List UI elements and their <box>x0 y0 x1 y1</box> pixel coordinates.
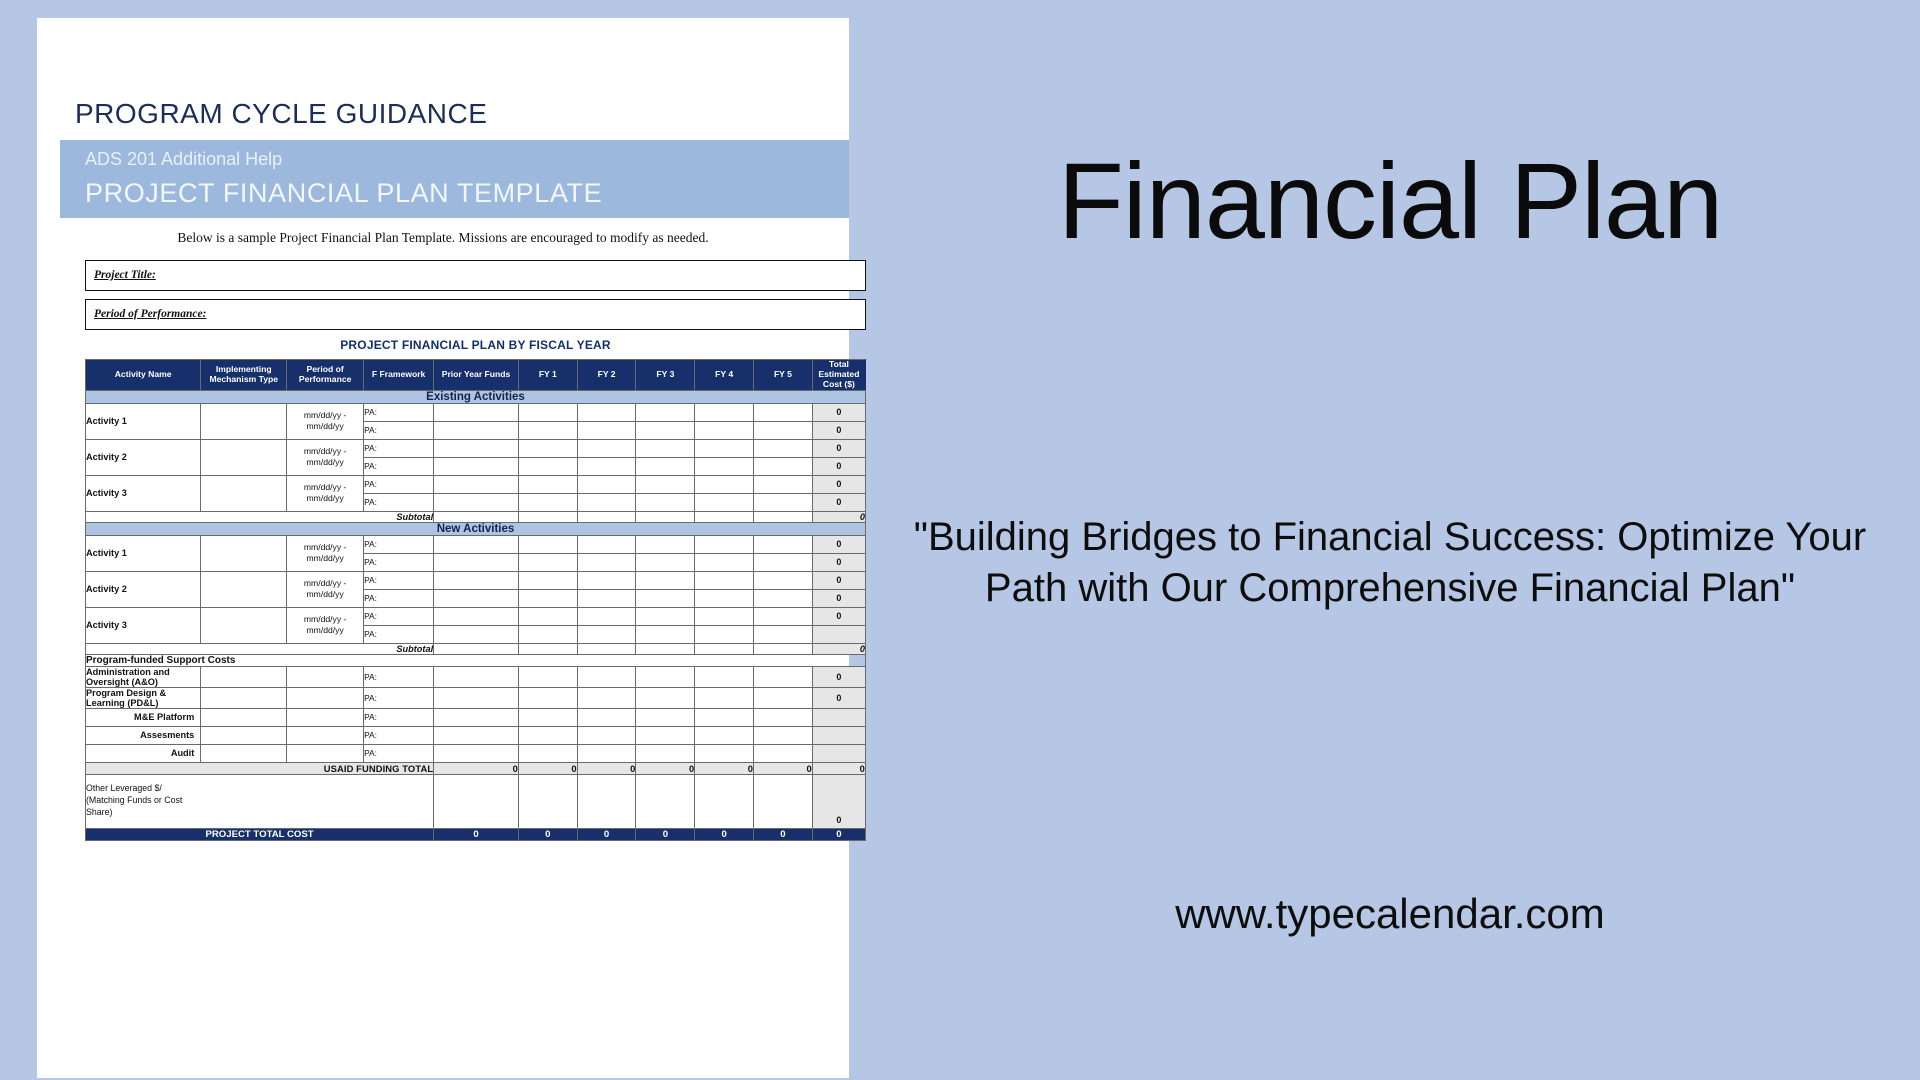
website-url: www.typecalendar.com <box>860 890 1920 938</box>
support-row-label: Administration and Oversight (A&O) <box>86 666 201 687</box>
usaid-total-fy2: 0 <box>577 762 636 774</box>
section-existing-activities: Existing Activities <box>86 390 866 403</box>
mechanism-cell[interactable] <box>201 535 287 571</box>
table-row: Activity 2 mm/dd/yy - mm/dd/yy PA: <box>86 571 866 589</box>
fy5-cell[interactable] <box>754 744 813 762</box>
fy2-cell[interactable] <box>577 607 636 625</box>
project-total-fy2: 0 <box>577 828 636 840</box>
support-row-label: Program Design & Learning (PD&L) <box>86 687 201 708</box>
fy4-cell[interactable] <box>695 687 754 708</box>
program-cycle-title: PROGRAM CYCLE GUIDANCE <box>75 98 487 130</box>
mechanism-cell[interactable] <box>201 687 287 708</box>
subtotal-fy3 <box>636 511 695 522</box>
total-cell: 0 <box>812 607 865 625</box>
fy2-cell[interactable] <box>577 439 636 457</box>
fy1-cell[interactable] <box>518 666 577 687</box>
table-row: Activity 1 mm/dd/yy - mm/dd/yy PA: <box>86 403 866 421</box>
date-to: mm/dd/yy <box>307 493 344 503</box>
project-total-grand: 0 <box>812 828 865 840</box>
total-cell: 0 <box>812 687 865 708</box>
fy2-cell[interactable] <box>577 625 636 643</box>
fy5-cell[interactable] <box>754 666 813 687</box>
fy3-cell[interactable] <box>636 589 695 607</box>
subtotal-fy4 <box>695 643 754 654</box>
prior-year-cell[interactable] <box>434 666 519 687</box>
subtotal-label: Subtotal <box>86 643 434 654</box>
fy2-cell[interactable] <box>577 535 636 553</box>
ads-help-line: ADS 201 Additional Help <box>85 149 282 170</box>
document-page: PROGRAM CYCLE GUIDANCE ADS 201 Additiona… <box>37 18 849 1078</box>
total-cell <box>812 625 865 643</box>
fy1-cell[interactable] <box>518 475 577 493</box>
period-of-performance-label: Period of Performance: <box>86 300 865 320</box>
subtotal-fy2 <box>577 511 636 522</box>
prior-year-cell[interactable] <box>434 493 519 511</box>
total-cell <box>812 726 865 744</box>
fy5-cell[interactable] <box>754 607 813 625</box>
date-from: mm/dd/yy - <box>304 542 347 552</box>
usaid-total-grand: 0 <box>812 762 865 774</box>
activity-name-cell: Activity 3 <box>86 607 201 643</box>
col-activity-name: Activity Name <box>86 360 201 391</box>
fy3-cell[interactable] <box>636 553 695 571</box>
mechanism-cell[interactable] <box>201 571 287 607</box>
leveraged-line-2: (Matching Funds or Cost <box>86 795 182 805</box>
period-cell[interactable] <box>287 708 364 726</box>
mechanism-cell[interactable] <box>201 439 287 475</box>
total-cell: 0 <box>812 589 865 607</box>
usaid-funding-total-label: USAID FUNDING TOTAL <box>86 762 434 774</box>
subtotal-label: Subtotal <box>86 511 434 522</box>
fy3-cell[interactable] <box>636 535 695 553</box>
fy5-cell[interactable] <box>754 421 813 439</box>
framework-cell[interactable]: PA: <box>364 625 434 643</box>
period-cell[interactable]: mm/dd/yy - mm/dd/yy <box>287 475 364 511</box>
col-fy1: FY 1 <box>518 360 577 391</box>
activity-name-cell: Activity 1 <box>86 403 201 439</box>
usaid-total-fy3: 0 <box>636 762 695 774</box>
framework-cell[interactable]: PA: <box>364 607 434 625</box>
fy5-cell[interactable] <box>754 439 813 457</box>
fy5-cell[interactable] <box>754 687 813 708</box>
fy1-cell[interactable] <box>518 535 577 553</box>
fy5-cell[interactable] <box>754 493 813 511</box>
section-support-label: Program-funded Support Costs <box>86 654 866 666</box>
date-to: mm/dd/yy <box>307 625 344 635</box>
period-cell[interactable] <box>287 687 364 708</box>
fy2-cell[interactable] <box>577 589 636 607</box>
fy1-cell[interactable] <box>518 493 577 511</box>
fy3-cell[interactable] <box>636 421 695 439</box>
fy1-cell[interactable] <box>518 439 577 457</box>
fy5-cell[interactable] <box>754 457 813 475</box>
period-cell[interactable]: mm/dd/yy - mm/dd/yy <box>287 571 364 607</box>
framework-cell[interactable]: PA: <box>364 666 434 687</box>
activity-name-cell: Activity 2 <box>86 439 201 475</box>
fy3-cell[interactable] <box>636 708 695 726</box>
prior-year-cell[interactable] <box>434 571 519 589</box>
fy1-cell[interactable] <box>518 607 577 625</box>
table-row: Activity 3 mm/dd/yy - mm/dd/yy PA: <box>86 607 866 625</box>
mechanism-cell[interactable] <box>201 475 287 511</box>
fy1-cell[interactable] <box>518 403 577 421</box>
leveraged-prior-year[interactable] <box>434 774 519 828</box>
subtotal-row-new: Subtotal 0 <box>86 643 866 654</box>
subtotal-fy2 <box>577 643 636 654</box>
date-from: mm/dd/yy - <box>304 410 347 420</box>
period-cell[interactable] <box>287 744 364 762</box>
fy4-cell[interactable] <box>695 744 754 762</box>
mechanism-cell[interactable] <box>201 708 287 726</box>
activity-name-cell: Activity 3 <box>86 475 201 511</box>
fy3-cell[interactable] <box>636 493 695 511</box>
fy2-cell[interactable] <box>577 687 636 708</box>
section-existing-label: Existing Activities <box>86 390 866 403</box>
fy3-cell[interactable] <box>636 571 695 589</box>
framework-cell[interactable]: PA: <box>364 493 434 511</box>
project-total-fy5: 0 <box>754 828 813 840</box>
usaid-total-fy4: 0 <box>695 762 754 774</box>
fy2-cell[interactable] <box>577 708 636 726</box>
fy3-cell[interactable] <box>636 744 695 762</box>
framework-cell[interactable]: PA: <box>364 708 434 726</box>
fy2-cell[interactable] <box>577 403 636 421</box>
period-cell[interactable]: mm/dd/yy - mm/dd/yy <box>287 403 364 439</box>
other-leveraged-label: Other Leveraged $/ (Matching Funds or Co… <box>86 774 434 828</box>
fy4-cell[interactable] <box>695 708 754 726</box>
period-cell[interactable]: mm/dd/yy - mm/dd/yy <box>287 535 364 571</box>
fy5-cell[interactable] <box>754 553 813 571</box>
subtotal-fy3 <box>636 643 695 654</box>
subtotal-fy4 <box>695 511 754 522</box>
table-row: M&E Platform PA: <box>86 708 866 726</box>
date-from: mm/dd/yy - <box>304 578 347 588</box>
framework-cell[interactable]: PA: <box>364 571 434 589</box>
usaid-funding-total-row: USAID FUNDING TOTAL 0 0 0 0 0 0 0 <box>86 762 866 774</box>
fy4-cell[interactable] <box>695 475 754 493</box>
framework-cell[interactable]: PA: <box>364 403 434 421</box>
prior-year-cell[interactable] <box>434 726 519 744</box>
date-to: mm/dd/yy <box>307 457 344 467</box>
date-to: mm/dd/yy <box>307 553 344 563</box>
fy3-cell[interactable] <box>636 666 695 687</box>
page-title: Financial Plan <box>860 138 1920 263</box>
fy5-cell[interactable] <box>754 535 813 553</box>
fy1-cell[interactable] <box>518 625 577 643</box>
table-row: Activity 3 mm/dd/yy - mm/dd/yy PA: <box>86 475 866 493</box>
project-title-field[interactable]: Project Title: <box>85 260 866 291</box>
project-title-label: Project Title: <box>86 261 865 281</box>
fy5-cell[interactable] <box>754 625 813 643</box>
fy2-cell[interactable] <box>577 744 636 762</box>
fy2-cell[interactable] <box>577 571 636 589</box>
fy1-cell[interactable] <box>518 421 577 439</box>
fy2-cell[interactable] <box>577 726 636 744</box>
fy3-cell[interactable] <box>636 439 695 457</box>
mechanism-cell[interactable] <box>201 607 287 643</box>
total-cell: 0 <box>812 421 865 439</box>
leveraged-fy4[interactable] <box>695 774 754 828</box>
support-row-label: Assesments <box>86 726 201 744</box>
fy2-cell[interactable] <box>577 493 636 511</box>
fy4-cell[interactable] <box>695 439 754 457</box>
fy1-cell[interactable] <box>518 571 577 589</box>
fy4-cell[interactable] <box>695 666 754 687</box>
prior-year-cell[interactable] <box>434 687 519 708</box>
col-period-performance: Period of Performance <box>287 360 364 391</box>
table-row: Activity 1 mm/dd/yy - mm/dd/yy PA: <box>86 535 866 553</box>
project-total-cost-label: PROJECT TOTAL COST <box>86 828 434 840</box>
fy5-cell[interactable] <box>754 403 813 421</box>
fy4-cell[interactable] <box>695 607 754 625</box>
prior-year-cell[interactable] <box>434 475 519 493</box>
fy4-cell[interactable] <box>695 535 754 553</box>
fy4-cell[interactable] <box>695 421 754 439</box>
fy3-cell[interactable] <box>636 457 695 475</box>
project-total-fy3: 0 <box>636 828 695 840</box>
project-total-fy1: 0 <box>518 828 577 840</box>
framework-cell[interactable]: PA: <box>364 457 434 475</box>
col-f-framework: F Framework <box>364 360 434 391</box>
fy3-cell[interactable] <box>636 726 695 744</box>
col-fy4: FY 4 <box>695 360 754 391</box>
total-cell: 0 <box>812 535 865 553</box>
framework-cell[interactable]: PA: <box>364 687 434 708</box>
date-to: mm/dd/yy <box>307 589 344 599</box>
project-total-prior-year: 0 <box>434 828 519 840</box>
table-row: Assesments PA: <box>86 726 866 744</box>
activity-name-cell: Activity 2 <box>86 571 201 607</box>
leveraged-line-3: Share) <box>86 807 112 817</box>
project-total-fy4: 0 <box>695 828 754 840</box>
fy2-cell[interactable] <box>577 457 636 475</box>
table-caption: PROJECT FINANCIAL PLAN BY FISCAL YEAR <box>85 338 866 352</box>
financial-plan-table: Activity Name Implementing Mechanism Typ… <box>85 359 866 841</box>
period-cell[interactable] <box>287 666 364 687</box>
fy4-cell[interactable] <box>695 493 754 511</box>
date-from: mm/dd/yy - <box>304 614 347 624</box>
total-cell: 0 <box>812 493 865 511</box>
fy5-cell[interactable] <box>754 726 813 744</box>
fy4-cell[interactable] <box>695 457 754 475</box>
subtotal-fy5 <box>754 643 813 654</box>
framework-cell[interactable]: PA: <box>364 553 434 571</box>
total-cell: 0 <box>812 403 865 421</box>
section-support-costs: Program-funded Support Costs <box>86 654 866 666</box>
subtotal-prior-year <box>434 643 519 654</box>
subtotal-fy1 <box>518 511 577 522</box>
fy1-cell[interactable] <box>518 708 577 726</box>
mechanism-cell[interactable] <box>201 744 287 762</box>
support-row-label: M&E Platform <box>86 708 201 726</box>
table-row: Audit PA: <box>86 744 866 762</box>
prior-year-cell[interactable] <box>434 439 519 457</box>
activity-name-cell: Activity 1 <box>86 535 201 571</box>
subtotal-row-existing: Subtotal 0 <box>86 511 866 522</box>
table-row: Program Design & Learning (PD&L) PA: 0 <box>86 687 866 708</box>
fy5-cell[interactable] <box>754 589 813 607</box>
total-cell: 0 <box>812 666 865 687</box>
leveraged-fy1[interactable] <box>518 774 577 828</box>
prior-year-cell[interactable] <box>434 421 519 439</box>
other-leveraged-row: Other Leveraged $/ (Matching Funds or Co… <box>86 774 866 828</box>
mechanism-cell[interactable] <box>201 726 287 744</box>
fy1-cell[interactable] <box>518 589 577 607</box>
prior-year-cell[interactable] <box>434 744 519 762</box>
fy4-cell[interactable] <box>695 726 754 744</box>
fy4-cell[interactable] <box>695 553 754 571</box>
leveraged-fy2[interactable] <box>577 774 636 828</box>
prior-year-cell[interactable] <box>434 589 519 607</box>
fy4-cell[interactable] <box>695 571 754 589</box>
period-cell[interactable]: mm/dd/yy - mm/dd/yy <box>287 439 364 475</box>
prior-year-cell[interactable] <box>434 457 519 475</box>
fy5-cell[interactable] <box>754 475 813 493</box>
leveraged-fy5[interactable] <box>754 774 813 828</box>
total-cell: 0 <box>812 475 865 493</box>
col-fy2: FY 2 <box>577 360 636 391</box>
prior-year-cell[interactable] <box>434 535 519 553</box>
col-implementing-mech: Implementing Mechanism Type <box>201 360 287 391</box>
fy3-cell[interactable] <box>636 687 695 708</box>
support-row-label: Audit <box>86 744 201 762</box>
total-cell: 0 <box>812 457 865 475</box>
section-new-label: New Activities <box>86 522 866 535</box>
date-from: mm/dd/yy - <box>304 482 347 492</box>
subtotal-fy5 <box>754 511 813 522</box>
right-panel: Financial Plan "Building Bridges to Fina… <box>860 0 1920 1080</box>
period-of-performance-field[interactable]: Period of Performance: <box>85 299 866 330</box>
total-cell: 0 <box>812 439 865 457</box>
total-cell: 0 <box>812 553 865 571</box>
framework-cell[interactable]: PA: <box>364 439 434 457</box>
table-row: Administration and Oversight (A&O) PA: 0 <box>86 666 866 687</box>
project-total-cost-row: PROJECT TOTAL COST 0 0 0 0 0 0 0 <box>86 828 866 840</box>
framework-cell[interactable]: PA: <box>364 535 434 553</box>
fy1-cell[interactable] <box>518 687 577 708</box>
fy2-cell[interactable] <box>577 475 636 493</box>
framework-cell[interactable]: PA: <box>364 744 434 762</box>
prior-year-cell[interactable] <box>434 625 519 643</box>
col-total-estimated-cost: Total Estimated Cost ($) <box>812 360 865 391</box>
fy1-cell[interactable] <box>518 457 577 475</box>
prior-year-cell[interactable] <box>434 553 519 571</box>
section-new-activities: New Activities <box>86 522 866 535</box>
framework-cell[interactable]: PA: <box>364 421 434 439</box>
fy1-cell[interactable] <box>518 726 577 744</box>
mechanism-cell[interactable] <box>201 666 287 687</box>
total-cell <box>812 708 865 726</box>
framework-cell[interactable]: PA: <box>364 475 434 493</box>
leveraged-total: 0 <box>812 774 865 828</box>
fy2-cell[interactable] <box>577 421 636 439</box>
col-fy3: FY 3 <box>636 360 695 391</box>
subtotal-fy1 <box>518 643 577 654</box>
mechanism-cell[interactable] <box>201 403 287 439</box>
leveraged-fy3[interactable] <box>636 774 695 828</box>
fy2-cell[interactable] <box>577 666 636 687</box>
leveraged-line-1: Other Leveraged $/ <box>86 783 162 793</box>
framework-cell[interactable]: PA: <box>364 589 434 607</box>
usaid-total-fy5: 0 <box>754 762 813 774</box>
instruction-note: Below is a sample Project Financial Plan… <box>37 230 849 246</box>
col-prior-year-funds: Prior Year Funds <box>434 360 519 391</box>
table-header-row: Activity Name Implementing Mechanism Typ… <box>86 360 866 391</box>
fy3-cell[interactable] <box>636 403 695 421</box>
poster-canvas: PROGRAM CYCLE GUIDANCE ADS 201 Additiona… <box>0 0 1920 1080</box>
fy4-cell[interactable] <box>695 589 754 607</box>
subtotal-total: 0 <box>812 511 865 522</box>
col-fy5: FY 5 <box>754 360 813 391</box>
fy5-cell[interactable] <box>754 571 813 589</box>
total-cell: 0 <box>812 571 865 589</box>
fy4-cell[interactable] <box>695 403 754 421</box>
prior-year-cell[interactable] <box>434 403 519 421</box>
usaid-total-prior-year: 0 <box>434 762 519 774</box>
fy3-cell[interactable] <box>636 607 695 625</box>
fy3-cell[interactable] <box>636 625 695 643</box>
framework-cell[interactable]: PA: <box>364 726 434 744</box>
subtotal-total: 0 <box>812 643 865 654</box>
usaid-total-fy1: 0 <box>518 762 577 774</box>
fy1-cell[interactable] <box>518 553 577 571</box>
date-to: mm/dd/yy <box>307 421 344 431</box>
prior-year-cell[interactable] <box>434 607 519 625</box>
template-title: PROJECT FINANCIAL PLAN TEMPLATE <box>85 178 602 209</box>
fy4-cell[interactable] <box>695 625 754 643</box>
total-cell <box>812 744 865 762</box>
tagline-quote: "Building Bridges to Financial Success: … <box>880 512 1900 614</box>
period-cell[interactable] <box>287 726 364 744</box>
subtotal-prior-year <box>434 511 519 522</box>
fy3-cell[interactable] <box>636 475 695 493</box>
prior-year-cell[interactable] <box>434 708 519 726</box>
table-row: Activity 2 mm/dd/yy - mm/dd/yy PA: <box>86 439 866 457</box>
fy2-cell[interactable] <box>577 553 636 571</box>
date-from: mm/dd/yy - <box>304 446 347 456</box>
fy1-cell[interactable] <box>518 744 577 762</box>
fy5-cell[interactable] <box>754 708 813 726</box>
period-cell[interactable]: mm/dd/yy - mm/dd/yy <box>287 607 364 643</box>
